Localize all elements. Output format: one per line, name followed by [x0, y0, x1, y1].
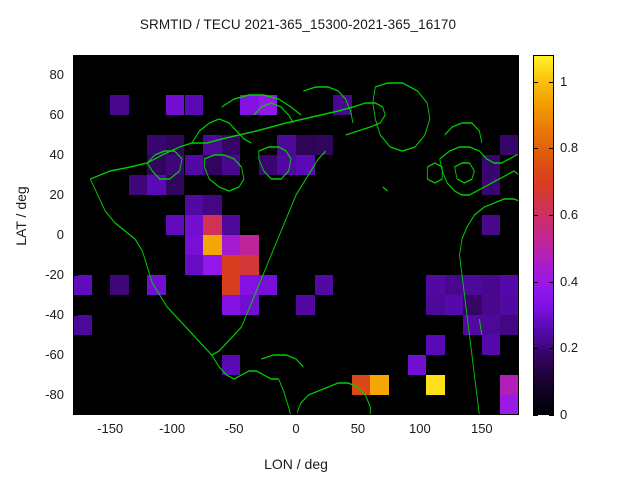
colorbar-tick	[549, 82, 554, 83]
y-axis-tick	[73, 75, 78, 76]
chart-title: SRMTID / TECU 2021-365_15300-2021-365_16…	[0, 17, 596, 32]
colorbar	[533, 55, 554, 415]
y-axis-tick-label: -40	[18, 307, 64, 322]
colorbar-tick	[533, 348, 538, 349]
x-axis-tick	[358, 410, 359, 415]
x-axis-tick-label: 150	[452, 421, 512, 436]
colorbar-tick	[533, 82, 538, 83]
x-axis-tick-label: -150	[80, 421, 140, 436]
y-axis-tick	[73, 235, 78, 236]
colorbar-tick-label: 0	[560, 407, 567, 422]
coastline-overlay	[73, 55, 519, 415]
colorbar-tick	[549, 415, 554, 416]
x-axis-tick	[234, 410, 235, 415]
x-axis-label: LON / deg	[73, 456, 519, 472]
y-axis-tick	[73, 275, 78, 276]
heatmap-plot-area	[73, 55, 519, 415]
y-axis-tick	[73, 315, 78, 316]
colorbar-tick	[549, 348, 554, 349]
y-axis-tick-label: -80	[18, 387, 64, 402]
y-axis-tick-label: 80	[18, 67, 64, 82]
colorbar-tick	[533, 415, 538, 416]
colorbar-gradient	[534, 56, 553, 414]
y-axis-tick	[73, 355, 78, 356]
y-axis-tick	[73, 395, 78, 396]
y-axis-label: LAT / deg	[13, 151, 29, 281]
y-axis-tick-label: -60	[18, 347, 64, 362]
colorbar-tick	[533, 148, 538, 149]
y-axis-tick-label: 60	[18, 107, 64, 122]
colorbar-tick-label: 1	[560, 74, 567, 89]
colorbar-tick	[549, 215, 554, 216]
colorbar-tick	[533, 282, 538, 283]
x-axis-tick-label: 0	[266, 421, 326, 436]
x-axis-tick	[172, 410, 173, 415]
x-axis-tick	[420, 410, 421, 415]
x-axis-tick-label: 50	[328, 421, 388, 436]
colorbar-tick-label: 0.6	[560, 207, 578, 222]
x-axis-tick-label: -100	[142, 421, 202, 436]
colorbar-tick-label: 0.4	[560, 274, 578, 289]
colorbar-tick-label: 0.2	[560, 340, 578, 355]
colorbar-tick-label: 0.8	[560, 140, 578, 155]
x-axis-tick-label: 100	[390, 421, 450, 436]
y-axis-tick	[73, 195, 78, 196]
colorbar-tick	[549, 282, 554, 283]
x-axis-tick-label: -50	[204, 421, 264, 436]
x-axis-tick	[110, 410, 111, 415]
colorbar-tick	[549, 148, 554, 149]
x-axis-tick	[482, 410, 483, 415]
colorbar-tick	[533, 215, 538, 216]
y-axis-tick	[73, 115, 78, 116]
chart-root: SRMTID / TECU 2021-365_15300-2021-365_16…	[0, 0, 640, 480]
x-axis-tick	[296, 410, 297, 415]
y-axis-tick	[73, 155, 78, 156]
